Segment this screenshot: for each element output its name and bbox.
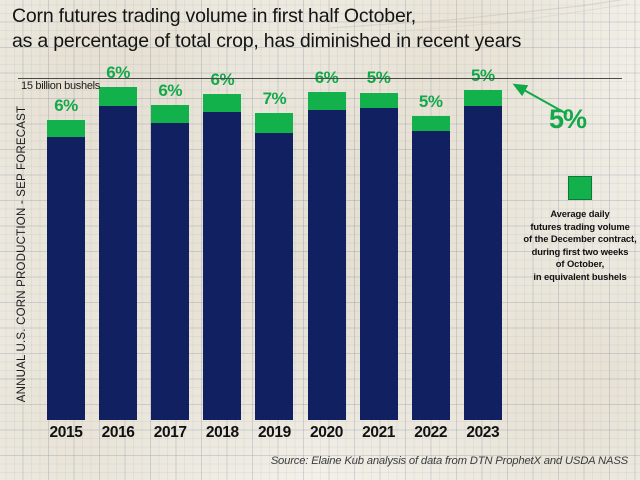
title-line-1: Corn futures trading volume in first hal… — [12, 4, 628, 29]
bar-segment-trading-volume — [203, 94, 241, 113]
legend-line-4: during first two weeks — [520, 246, 640, 259]
bar-segment-production — [308, 110, 346, 420]
page-title: Corn futures trading volume in first hal… — [12, 4, 628, 54]
bar-data-label: 6% — [35, 96, 97, 116]
legend-line-3: of the December contract, — [520, 233, 640, 246]
bar-segment-trading-volume — [308, 92, 346, 111]
x-axis-tick-2023: 2023 — [452, 424, 514, 442]
bar-segment-production — [47, 137, 85, 420]
x-axis-labels: 201520162017201820192020202120222023 — [0, 424, 640, 446]
bar-segment-production — [360, 108, 398, 420]
bar-segment-production — [151, 123, 189, 420]
bar-data-label: 6% — [191, 70, 253, 90]
bar-segment-trading-volume — [412, 116, 450, 131]
legend-line-1: Average daily — [520, 208, 640, 221]
legend-line-2: futures trading volume — [520, 221, 640, 234]
bar-data-label: 7% — [243, 89, 305, 109]
bar-segment-trading-volume — [47, 120, 85, 137]
bar-segment-trading-volume — [360, 93, 398, 109]
legend-text: Average daily futures trading volume of … — [520, 208, 640, 284]
bar-segment-trading-volume — [151, 105, 189, 123]
bar-segment-production — [464, 106, 502, 420]
chart-canvas: Corn futures trading volume in first hal… — [0, 0, 640, 480]
legend: Average daily futures trading volume of … — [520, 176, 640, 284]
bar-segment-trading-volume — [99, 87, 137, 106]
legend-line-6: in equivalent bushels — [520, 271, 640, 284]
bar-segment-production — [99, 106, 137, 420]
legend-swatch-green — [568, 176, 592, 200]
legend-line-5: of October, — [520, 258, 640, 271]
bar-segment-production — [255, 133, 293, 420]
y-axis-label: ANNUAL U.S. CORN PRODUCTION - SEP FORECA… — [16, 104, 28, 404]
bar-segment-production — [203, 112, 241, 420]
callout-value-2023: 5% — [549, 104, 586, 135]
bar-data-label: 5% — [400, 92, 462, 112]
bar-segment-trading-volume — [464, 90, 502, 106]
reference-line-label: 15 billion bushels — [21, 80, 100, 92]
bar-segment-trading-volume — [255, 113, 293, 133]
source-note: Source: Elaine Kub analysis of data from… — [0, 455, 628, 467]
bar-segment-production — [412, 131, 450, 420]
title-line-2: as a percentage of total crop, has dimin… — [12, 29, 628, 54]
